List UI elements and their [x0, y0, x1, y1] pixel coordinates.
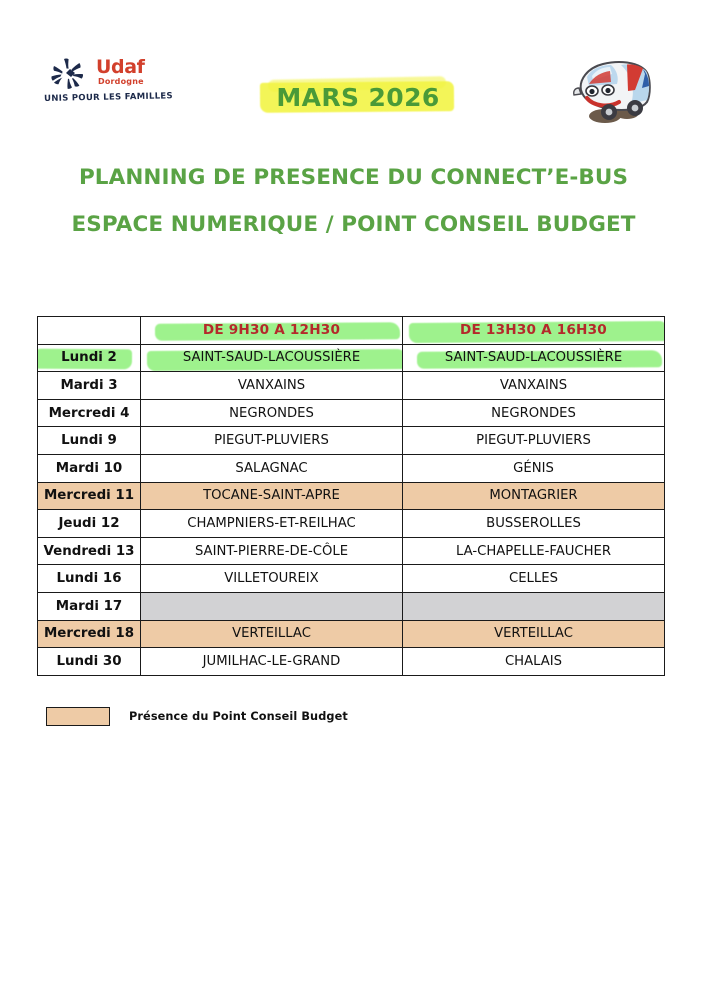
row-afternoon-cell: NEGRONDES [403, 399, 665, 427]
row-day-cell: Lundi 9 [38, 427, 141, 455]
row-afternoon-label: GÉNIS [513, 461, 554, 476]
row-morning-label: VANXAINS [238, 378, 305, 393]
row-morning-cell: SAINT-PIERRE-DE-CÔLE [141, 537, 403, 565]
row-day-cell: Mercredi 18 [38, 620, 141, 648]
udaf-department-label: Dordogne [98, 77, 144, 86]
legend-swatch-pcb [46, 707, 110, 726]
row-morning-cell: VILLETOUREIX [141, 565, 403, 593]
row-day-label: Lundi 9 [61, 433, 117, 448]
row-morning-cell: SALAGNAC [141, 454, 403, 482]
row-day-label: Lundi 2 [61, 350, 117, 365]
row-afternoon-cell: BUSSEROLLES [403, 510, 665, 538]
document-header: Udaf Dordogne UNIS POUR LES FAMILLES MAR… [0, 0, 707, 145]
table-row: Lundi 2 SAINT-SAUD-LACOUSSIÈRE SAINT-SAU… [38, 344, 665, 372]
udaf-tagline: UNIS POUR LES FAMILLES [44, 91, 173, 104]
row-afternoon-cell: MONTAGRIER [403, 482, 665, 510]
legend: Présence du Point Conseil Budget [46, 707, 348, 726]
row-morning-label: SALAGNAC [235, 461, 307, 476]
udaf-wordmark: Udaf [96, 57, 145, 77]
page-title-line-2: ESPACE NUMERIQUE / POINT CONSEIL BUDGET [0, 201, 707, 248]
row-day-cell: Lundi 30 [38, 648, 141, 676]
row-day-label: Vendredi 13 [44, 544, 135, 559]
row-afternoon-label: CHALAIS [505, 654, 562, 669]
row-afternoon-label: LA-CHAPELLE-FAUCHER [456, 544, 611, 559]
row-day-cell: Lundi 16 [38, 565, 141, 593]
table-row: Mardi 10 SALAGNAC GÉNIS [38, 454, 665, 482]
month-title: MARS 2026 [258, 76, 458, 118]
table-row: Lundi 9 PIEGUT-PLUVIERS PIEGUT-PLUVIERS [38, 427, 665, 455]
legend-label-pcb: Présence du Point Conseil Budget [129, 710, 348, 723]
month-label: MARS 2026 [258, 83, 458, 112]
row-afternoon-label: NEGRONDES [491, 406, 576, 421]
row-day-cell: Jeudi 12 [38, 510, 141, 538]
schedule-table: DE 9H30 A 12H30 DE 13H30 A 16H30 Lundi 2… [37, 316, 665, 676]
header-cell-afternoon: DE 13H30 A 16H30 [403, 317, 665, 345]
header-label-morning: DE 9H30 A 12H30 [203, 322, 340, 338]
row-afternoon-cell: LA-CHAPELLE-FAUCHER [403, 537, 665, 565]
page-title: PLANNING DE PRESENCE DU CONNECT’E-BUS ES… [0, 154, 707, 248]
row-afternoon-label: SAINT-SAUD-LACOUSSIÈRE [445, 350, 622, 365]
row-afternoon-label: MONTAGRIER [489, 488, 577, 503]
row-day-label: Mardi 17 [56, 599, 122, 614]
row-day-label: Mercredi 4 [49, 406, 130, 421]
table-row: Mercredi 18 VERTEILLAC VERTEILLAC [38, 620, 665, 648]
row-afternoon-cell: SAINT-SAUD-LACOUSSIÈRE [403, 344, 665, 372]
row-afternoon-cell: CHALAIS [403, 648, 665, 676]
row-afternoon-cell: VANXAINS [403, 372, 665, 400]
table-row: Mercredi 4 NEGRONDES NEGRONDES [38, 399, 665, 427]
table-row: Vendredi 13 SAINT-PIERRE-DE-CÔLE LA-CHAP… [38, 537, 665, 565]
row-day-cell: Mardi 3 [38, 372, 141, 400]
row-afternoon-label: PIEGUT-PLUVIERS [476, 433, 591, 448]
row-day-cell: Vendredi 13 [38, 537, 141, 565]
row-morning-label: PIEGUT-PLUVIERS [214, 433, 329, 448]
row-morning-label: SAINT-SAUD-LACOUSSIÈRE [183, 350, 360, 365]
row-morning-cell: VERTEILLAC [141, 620, 403, 648]
table-row: Mardi 17 [38, 592, 665, 620]
row-morning-cell: JUMILHAC-LE-GRAND [141, 648, 403, 676]
row-morning-cell: CHAMPNIERS-ET-REILHAC [141, 510, 403, 538]
row-morning-cell: VANXAINS [141, 372, 403, 400]
row-morning-cell [141, 592, 403, 620]
connect-e-bus-van-icon [565, 50, 661, 130]
row-afternoon-label: VERTEILLAC [494, 626, 573, 641]
row-morning-label: CHAMPNIERS-ET-REILHAC [187, 516, 355, 531]
page-title-line-1: PLANNING DE PRESENCE DU CONNECT’E-BUS [0, 154, 707, 201]
table-row: Lundi 16 VILLETOUREIX CELLES [38, 565, 665, 593]
row-morning-label: NEGRONDES [229, 406, 314, 421]
row-afternoon-label: VANXAINS [500, 378, 567, 393]
row-day-label: Mardi 10 [56, 461, 122, 476]
row-afternoon-cell: PIEGUT-PLUVIERS [403, 427, 665, 455]
header-label-afternoon: DE 13H30 A 16H30 [460, 322, 607, 338]
udaf-logo: Udaf Dordogne UNIS POUR LES FAMILLES [42, 56, 192, 112]
row-morning-label: VILLETOUREIX [224, 571, 318, 586]
row-morning-cell: NEGRONDES [141, 399, 403, 427]
row-morning-label: SAINT-PIERRE-DE-CÔLE [195, 544, 348, 559]
row-morning-label: VERTEILLAC [232, 626, 311, 641]
row-afternoon-cell [403, 592, 665, 620]
row-day-cell: Mercredi 4 [38, 399, 141, 427]
row-afternoon-cell: GÉNIS [403, 454, 665, 482]
row-day-label: Mardi 3 [60, 378, 117, 393]
row-day-label: Lundi 16 [56, 571, 121, 586]
row-day-label: Mercredi 11 [44, 488, 134, 503]
udaf-starburst-icon [42, 56, 94, 94]
table-row: Mardi 3 VANXAINS VANXAINS [38, 372, 665, 400]
row-morning-label: TOCANE-SAINT-APRE [203, 488, 340, 503]
row-afternoon-label: BUSSEROLLES [486, 516, 581, 531]
row-afternoon-label: CELLES [509, 571, 558, 586]
row-morning-cell: TOCANE-SAINT-APRE [141, 482, 403, 510]
row-day-cell: Mardi 10 [38, 454, 141, 482]
row-day-cell: Mardi 17 [38, 592, 141, 620]
row-day-label: Jeudi 12 [58, 516, 119, 531]
table-header-row: DE 9H30 A 12H30 DE 13H30 A 16H30 [38, 317, 665, 345]
row-day-label: Mercredi 18 [44, 626, 134, 641]
row-day-cell: Lundi 2 [38, 344, 141, 372]
row-afternoon-cell: VERTEILLAC [403, 620, 665, 648]
row-day-label: Lundi 30 [56, 654, 121, 669]
row-morning-label: JUMILHAC-LE-GRAND [203, 654, 341, 669]
row-afternoon-cell: CELLES [403, 565, 665, 593]
row-day-cell: Mercredi 11 [38, 482, 141, 510]
row-morning-cell: SAINT-SAUD-LACOUSSIÈRE [141, 344, 403, 372]
table-row: Mercredi 11 TOCANE-SAINT-APRE MONTAGRIER [38, 482, 665, 510]
table-row: Lundi 30 JUMILHAC-LE-GRAND CHALAIS [38, 648, 665, 676]
schedule-table-body: DE 9H30 A 12H30 DE 13H30 A 16H30 Lundi 2… [38, 317, 665, 676]
row-morning-cell: PIEGUT-PLUVIERS [141, 427, 403, 455]
header-cell-day [38, 317, 141, 345]
header-cell-morning: DE 9H30 A 12H30 [141, 317, 403, 345]
table-row: Jeudi 12 CHAMPNIERS-ET-REILHAC BUSSEROLL… [38, 510, 665, 538]
